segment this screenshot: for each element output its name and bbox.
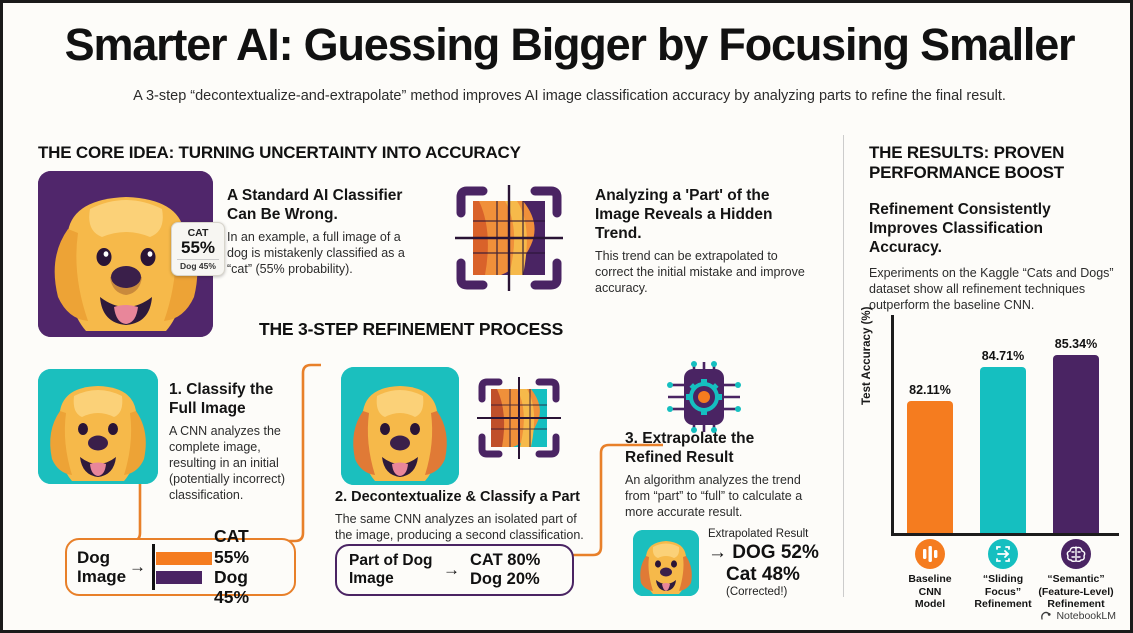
results-title: Refinement Consistently Improves Classif… <box>869 201 1117 258</box>
results-text: Refinement Consistently Improves Classif… <box>869 201 1117 313</box>
brain-icon <box>1061 539 1091 569</box>
step3-text: 3. Extrapolate the Refined Result An alg… <box>625 430 815 520</box>
chart-bar-2 <box>1053 355 1099 533</box>
sliding-focus-icon <box>988 539 1018 569</box>
step3-result-note: (Corrected!) <box>708 586 838 598</box>
page-subtitle: A 3-step “decontextualize-and-extrapolat… <box>53 87 1086 106</box>
chart-bar-group-0: 82.11% <box>907 401 953 533</box>
process-heading: THE 3-STEP REFINEMENT PROCESS <box>259 319 563 340</box>
step1-title: 1. Classify the Full Image <box>169 381 287 419</box>
chart-tick-label-0: Baseline CNN Model <box>888 573 972 611</box>
crop-focus-icon-large <box>441 175 577 300</box>
step3-title: 3. Extrapolate the Refined Result <box>625 430 815 468</box>
chart-y-axis-label: Test Accuracy (%) <box>861 307 873 405</box>
processor-chip-icon <box>658 361 750 433</box>
step2-input-label: Part of Dog Image <box>349 552 433 587</box>
chart-x-axis <box>891 533 1119 536</box>
step2-text: 2. Decontextualize & Classify a Part The… <box>335 489 585 543</box>
step2-dog-value: Dog 20% <box>470 570 540 589</box>
step1-mini-bar-chart <box>152 544 214 590</box>
step3-result-primary: → DOG 52% <box>708 542 838 564</box>
chart-bar-group-2: 85.34% <box>1053 355 1099 533</box>
chart-bar-0 <box>907 401 953 533</box>
dog-portrait-step3 <box>633 530 699 596</box>
chart-bar-1 <box>980 367 1026 533</box>
core-idea-right-text: Analyzing a 'Part' of the Image Reveals … <box>595 187 813 296</box>
step3-result-secondary: Cat 48% <box>708 564 838 586</box>
step3-result-caption: Extrapolated Result <box>708 528 838 540</box>
step1-cat-value: CAT 55% <box>214 526 284 567</box>
step2-arrow: → <box>443 560 460 580</box>
step1-result-box: Dog Image → CAT 55% Dog 45% <box>65 538 296 596</box>
step2-title: 2. Decontextualize & Classify a Part <box>335 489 585 507</box>
cat-probability-badge: CAT 55% Dog 45% <box>171 222 225 276</box>
step1-body: A CNN analyzes the complete image, resul… <box>169 423 287 503</box>
step2-body: The same CNN analyzes an isolated part o… <box>335 511 585 543</box>
chart-value-label-1: 84.71% <box>964 349 1042 363</box>
bars-icon <box>915 539 945 569</box>
mini-bar-cat <box>156 552 212 565</box>
chart-bar-group-1: 84.71% <box>980 367 1026 533</box>
mini-bar-dog <box>156 571 202 584</box>
chart-value-label-2: 85.34% <box>1037 337 1115 351</box>
crop-focus-icon-small <box>467 369 571 465</box>
results-heading: THE RESULTS: PROVEN PERFORMANCE BOOST <box>869 143 1119 184</box>
step3-body: An algorithm analyzes the trend from “pa… <box>625 472 815 520</box>
step1-values: CAT 55% Dog 45% <box>214 526 284 607</box>
step2-cat-value: CAT 80% <box>470 551 540 570</box>
step1-dog-value: Dog 45% <box>214 567 284 608</box>
core-idea-heading: THE CORE IDEA: TURNING UNCERTAINTY INTO … <box>38 143 521 163</box>
mini-axis <box>152 544 155 590</box>
step1-text: 1. Classify the Full Image A CNN analyze… <box>169 381 287 503</box>
core-left-title: A Standard AI Classifier Can Be Wrong. <box>227 187 417 225</box>
chart-value-label-0: 82.11% <box>891 383 969 397</box>
core-right-title: Analyzing a 'Part' of the Image Reveals … <box>595 187 813 244</box>
badge-secondary: Dog 45% <box>177 259 219 271</box>
step2-values: CAT 80% Dog 20% <box>470 551 540 589</box>
infographic-root: Smarter AI: Guessing Bigger by Focusing … <box>0 0 1133 633</box>
chart-tick-label-2: “Semantic” (Feature-Level) Refinement <box>1034 573 1118 611</box>
dog-portrait-step1 <box>38 369 158 484</box>
page-title: Smarter AI: Guessing Bigger by Focusing … <box>3 21 1133 68</box>
notebooklm-badge: NotebookLM <box>1040 610 1116 622</box>
badge-value: 55% <box>177 239 219 257</box>
notebooklm-icon <box>1040 610 1052 622</box>
step2-result-box: Part of Dog Image → CAT 80% Dog 20% <box>335 544 574 596</box>
step3-result: Extrapolated Result → DOG 52% Cat 48% (C… <box>708 528 838 598</box>
core-right-body: This trend can be extrapolated to correc… <box>595 248 813 296</box>
step1-input-label: Dog Image <box>77 548 123 587</box>
chart-tick-label-1: “Sliding Focus” Refinement <box>961 573 1045 611</box>
notebooklm-label: NotebookLM <box>1056 610 1116 622</box>
results-body: Experiments on the Kaggle “Cats and Dogs… <box>869 265 1117 313</box>
dog-portrait-step2 <box>341 367 459 485</box>
results-bar-chart: Test Accuracy (%) 82.11% Baseline CNN Mo… <box>865 311 1123 601</box>
chart-y-axis <box>891 315 894 535</box>
step1-arrow: → <box>129 557 146 577</box>
core-idea-left-text: A Standard AI Classifier Can Be Wrong. I… <box>227 187 417 277</box>
core-left-body: In an example, a full image of a dog is … <box>227 229 417 277</box>
